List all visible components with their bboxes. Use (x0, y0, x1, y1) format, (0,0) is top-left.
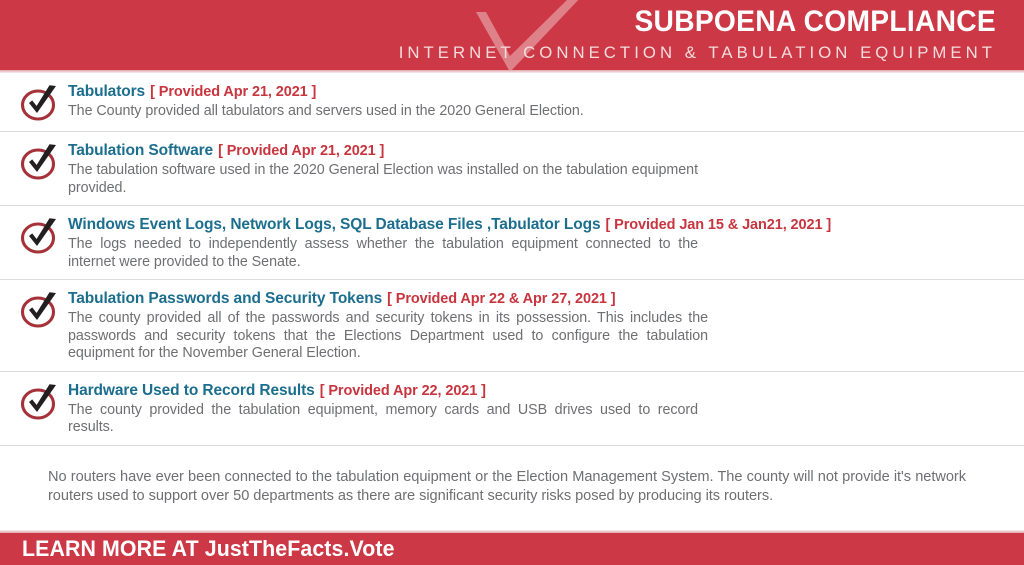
check-circle-icon (18, 216, 62, 256)
footer-note: No routers have ever been connected to t… (0, 460, 1024, 506)
footer-note-text: No routers have ever been connected to t… (48, 468, 966, 506)
list-item-body: Windows Event Logs, Network Logs, SQL Da… (68, 215, 1004, 271)
header-text-wrap: SUBPOENA COMPLIANCE INTERNET CONNECTION … (236, 4, 996, 65)
list-item: Hardware Used to Record Results[ Provide… (0, 372, 1024, 446)
bottom-banner: LEARN MORE AT JustTheFacts.Vote (0, 533, 1024, 565)
list-item-heading: Hardware Used to Record Results[ Provide… (68, 381, 1004, 401)
status-badge: [ Provided Apr 22 & Apr 27, 2021 ] (387, 291, 615, 307)
status-badge: [ Provided Apr 22, 2021 ] (320, 383, 486, 399)
list-item: Tabulation Passwords and Security Tokens… (0, 280, 1024, 372)
check-circle-icon (18, 142, 62, 182)
list-item: Tabulation Software[ Provided Apr 21, 20… (0, 132, 1024, 206)
status-badge: [ Provided Jan 15 & Jan21, 2021 ] (605, 217, 831, 233)
list-item-body: Tabulation Software[ Provided Apr 21, 20… (68, 141, 1004, 197)
header-band: SUBPOENA COMPLIANCE INTERNET CONNECTION … (0, 0, 1024, 70)
list-item-title: Hardware Used to Record Results (68, 382, 315, 399)
list-item-heading: Tabulation Software[ Provided Apr 21, 20… (68, 141, 1004, 161)
list-item-heading: Tabulators[ Provided Apr 21, 2021 ] (68, 82, 1004, 102)
list-item-description: The logs needed to independently assess … (68, 236, 698, 271)
list-item-heading: Tabulation Passwords and Security Tokens… (68, 289, 1004, 309)
list-item-description: The County provided all tabulators and s… (68, 103, 718, 121)
list-item-title: Windows Event Logs, Network Logs, SQL Da… (68, 216, 600, 233)
list-item-description: The county provided the tabulation equip… (68, 402, 698, 437)
list-item: Tabulators[ Provided Apr 21, 2021 ] The … (0, 73, 1024, 132)
list-item-body: Tabulators[ Provided Apr 21, 2021 ] The … (68, 82, 1004, 121)
status-badge: [ Provided Apr 21, 2021 ] (218, 143, 384, 159)
list-item-description: The tabulation software used in the 2020… (68, 162, 698, 197)
list-item-body: Tabulation Passwords and Security Tokens… (68, 289, 1004, 363)
check-circle-icon (18, 382, 62, 422)
check-circle-icon (18, 290, 62, 330)
page-title: SUBPOENA COMPLIANCE (282, 4, 996, 40)
list-item-description: The county provided all of the passwords… (68, 310, 708, 363)
list-item-title: Tabulators (68, 83, 145, 100)
status-badge: [ Provided Apr 21, 2021 ] (150, 84, 316, 100)
check-circle-icon (18, 83, 62, 123)
list-item-body: Hardware Used to Record Results[ Provide… (68, 381, 1004, 437)
list-item: Windows Event Logs, Network Logs, SQL Da… (0, 206, 1024, 280)
list-item-title: Tabulation Software (68, 142, 213, 159)
page-subtitle: INTERNET CONNECTION & TABULATION EQUIPME… (247, 41, 996, 65)
list-item-title: Tabulation Passwords and Security Tokens (68, 290, 382, 307)
learn-more-label: LEARN MORE AT JustTheFacts.Vote (22, 536, 395, 562)
list-item-heading: Windows Event Logs, Network Logs, SQL Da… (68, 215, 1004, 235)
